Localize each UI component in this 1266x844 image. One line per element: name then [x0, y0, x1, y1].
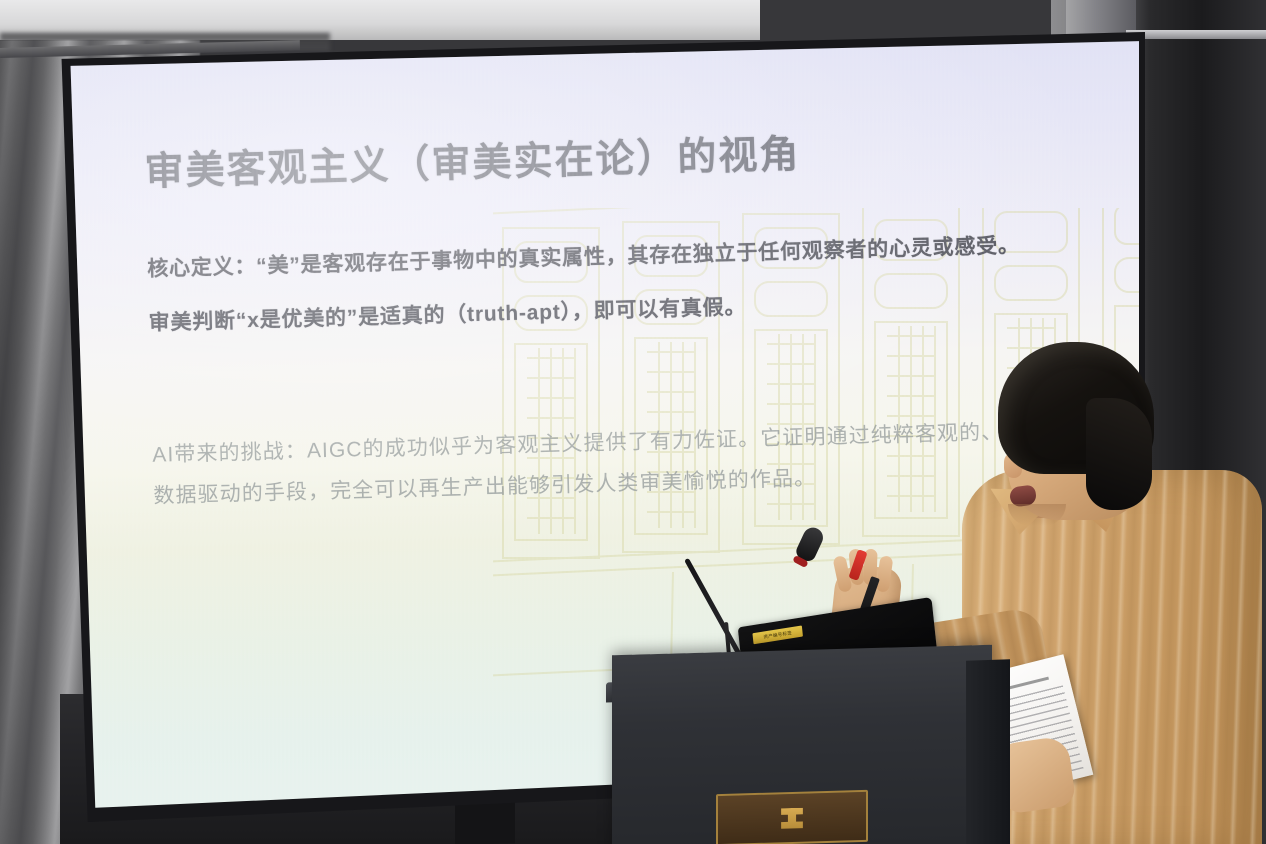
slide-body-block: 核心定义：“美”是客观存在于事物中的真实属性，其存在独立于任何观察者的心灵或感受… — [147, 229, 1070, 361]
left-curtain-shadow — [0, 40, 60, 844]
lectern-side-panel — [966, 659, 1010, 844]
laptop-sticker-label: 资产编号标签 — [752, 625, 803, 644]
right-ceiling-rail — [1126, 30, 1266, 39]
institution-emblem-icon — [775, 808, 809, 839]
slide-note-block: AI带来的挑战：AIGC的成功似乎为客观主义提供了有力佐证。它证明通过纯粹客观的… — [152, 411, 1054, 517]
slide-title: 审美客观主义（审美实在论）的视角 — [144, 123, 801, 197]
lectern-plaque — [716, 790, 868, 844]
presentation-photo-scene: 审美客观主义（审美实在论）的视角 核心定义：“美”是客观存在于事物中的真实属性，… — [0, 0, 1266, 844]
laptop-asset-sticker: 资产编号标签 — [752, 625, 803, 644]
slide-body-line-2: 审美判断“x是优美的”是适真的（truth-apt），即可以有真假。 — [148, 282, 1069, 339]
slide-body-line-1: 核心定义：“美”是客观存在于事物中的真实属性，其存在独立于任何观察者的心灵或感受… — [147, 229, 1068, 286]
